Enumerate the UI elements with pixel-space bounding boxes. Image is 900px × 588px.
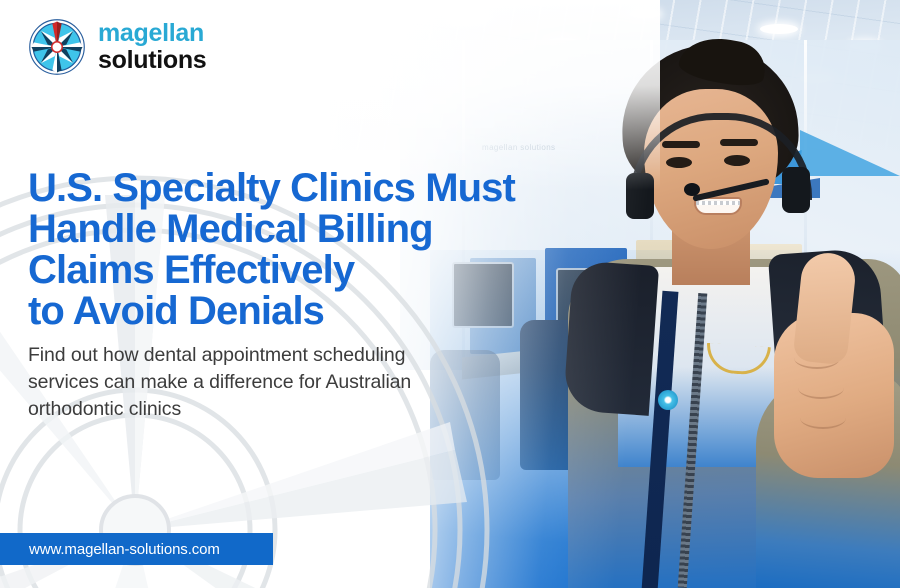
website-url-text: www.magellan-solutions.com — [0, 541, 220, 558]
magellan-solutions-logo[interactable]: magellan solutions — [28, 18, 206, 76]
headline-line-2: Handle Medical Billing — [28, 209, 588, 250]
logo-word-solutions: solutions — [98, 48, 206, 73]
headline-line-3: Claims Effectively — [28, 250, 588, 291]
magellan-solutions-banner: magellan solutions MAGELLAN SOLUTIONS — [0, 0, 900, 588]
headline: U.S. Specialty Clinics Must Handle Medic… — [28, 168, 588, 332]
logo-wordmark: magellan solutions — [98, 21, 206, 73]
magellan-compass-rose-icon — [28, 18, 86, 76]
subheadline-line-2: services can make a difference for Austr… — [28, 369, 528, 396]
headline-line-4: to Avoid Denials — [28, 291, 588, 332]
subheadline-line-3: orthodontic clinics — [28, 396, 528, 423]
subheadline-line-1: Find out how dental appointment scheduli… — [28, 342, 528, 369]
logo-word-magellan: magellan — [98, 21, 206, 46]
website-url-bar[interactable]: www.magellan-solutions.com — [0, 533, 273, 565]
subheadline: Find out how dental appointment scheduli… — [28, 342, 528, 423]
headline-line-1: U.S. Specialty Clinics Must — [28, 168, 588, 209]
